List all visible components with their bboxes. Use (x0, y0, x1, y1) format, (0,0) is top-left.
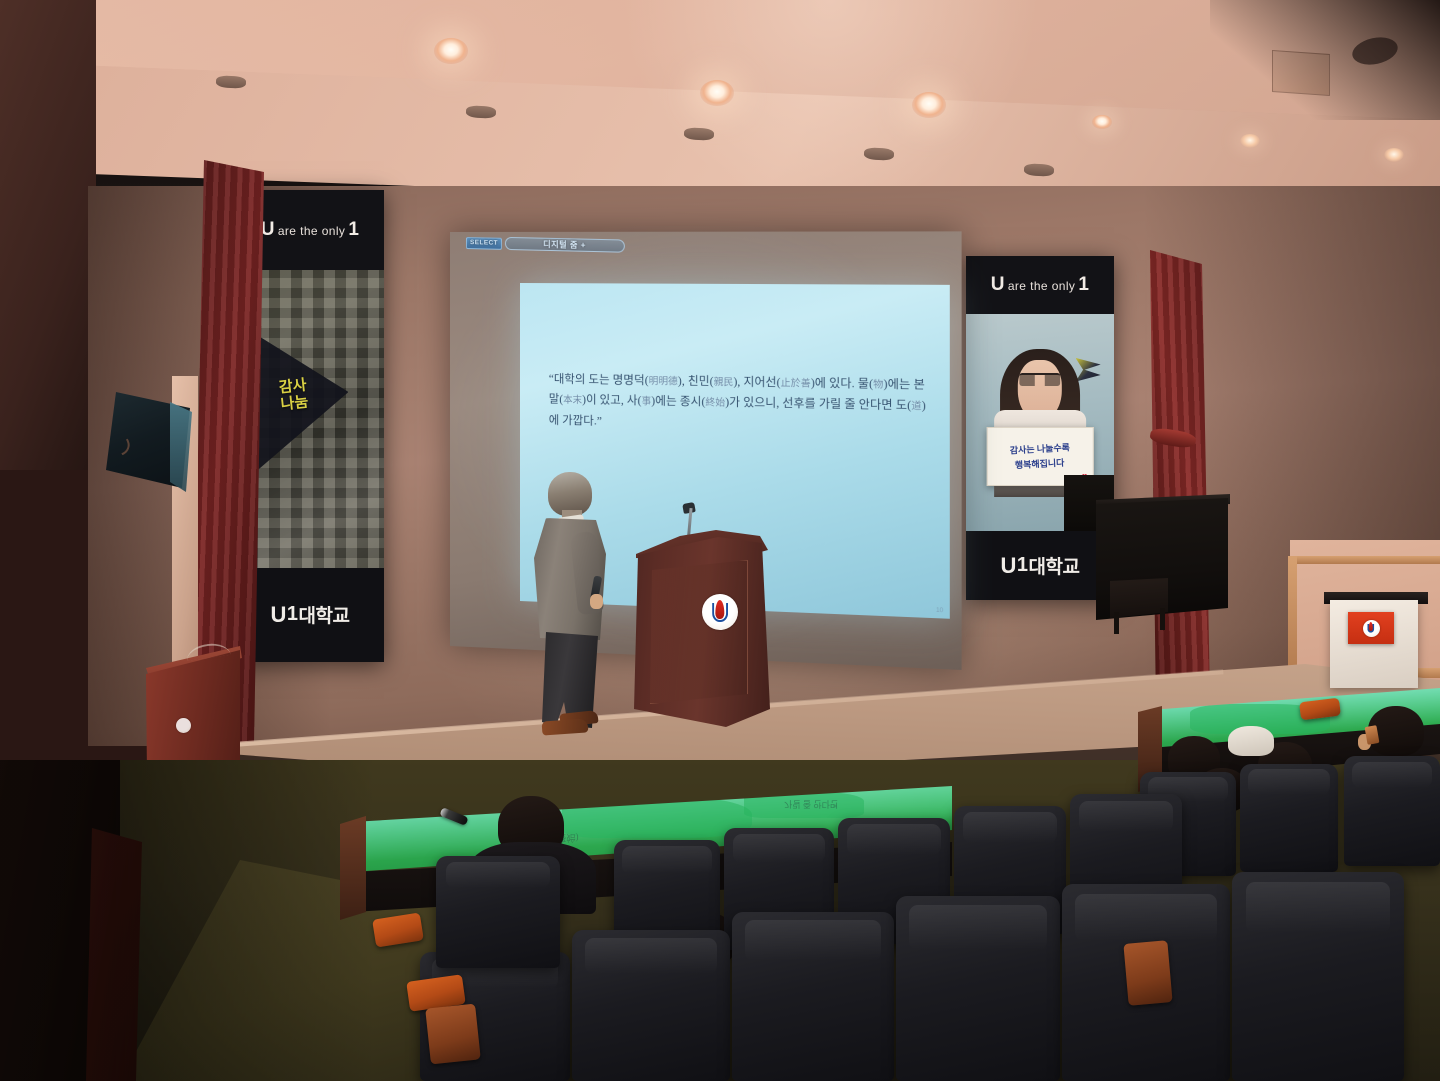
curtain-right (1150, 250, 1210, 710)
u1-university-seal-icon (702, 594, 738, 630)
banner-left-tagline: U are the only 1 (261, 219, 360, 241)
side-lectern-seal-icon (176, 718, 191, 733)
seat-highlight (1248, 769, 1330, 795)
banner-left-handwriting-line2: 나눔 (280, 395, 309, 415)
banner-left-tagline-one: 1 (348, 219, 359, 241)
ceiling-shadow (1210, 0, 1440, 120)
slide-text: “대학의 도는 명명덕(明明德), 친민(親民), 지어선(止於善)에 있다. … (549, 369, 932, 439)
seat-highlight (963, 812, 1057, 843)
banner-right-tagline-u: U (991, 274, 1005, 296)
seat-highlight (909, 905, 1047, 949)
sign-line-2: 행복해집니다 (1015, 456, 1065, 472)
ceiling-downlight-icon (1384, 148, 1404, 162)
red-notice-sign (1348, 612, 1394, 644)
seat-highlight (1246, 882, 1390, 932)
seat-highlight (1079, 801, 1173, 832)
banner-left-logo-u: U (271, 602, 286, 628)
ceiling-downlight-icon (1092, 115, 1112, 129)
ceiling-downlight-icon (1240, 134, 1260, 148)
wood-trim-upper (1288, 556, 1440, 564)
ceiling-downlight-icon (912, 92, 946, 118)
ceiling-track-fixture-icon (466, 105, 497, 119)
banner-right-logo-u: U (1001, 553, 1016, 579)
seat-highlight (1352, 762, 1433, 788)
auditorium-seat[interactable] (436, 856, 560, 968)
banner-left-logo: U 1 대학교 (271, 601, 350, 628)
podium-front-panel (644, 560, 748, 704)
seat-highlight (745, 920, 881, 961)
banner-right-logo-mark-icon (1076, 358, 1101, 382)
ceiling-light-glow (620, 0, 1040, 210)
banner-left-logo-num: 1 (287, 603, 298, 626)
banner-left-tagline-mid: are the only (278, 224, 346, 238)
glasses-icon (1019, 373, 1060, 386)
auditorium-seat[interactable] (732, 912, 894, 1081)
ceiling-track-fixture-icon (1024, 163, 1055, 177)
osd-digital-zoom-item[interactable]: 디지털 줌 + (505, 237, 625, 253)
banner-right: U are the only 1 감사는 나눌수록 행복해집니다 ♥ U 1 대… (966, 256, 1114, 600)
desk-reflection-text: 가릴 줄 안다면 (784, 798, 838, 811)
ceiling-track-fixture-icon (684, 127, 715, 141)
seat-highlight (847, 824, 941, 854)
banner-left-bottom: U 1 대학교 (236, 568, 384, 662)
sign-line-1: 감사는 나눌수록 (1010, 441, 1071, 457)
seat-armrest[interactable] (425, 1004, 481, 1065)
banner-right-tagline: U are the only 1 (991, 274, 1090, 296)
banner-right-top: U are the only 1 (966, 256, 1114, 314)
banner-left-logo-word: 대학교 (299, 601, 350, 628)
banner-right-photo: 감사는 나눌수록 행복해집니다 ♥ (966, 314, 1114, 531)
osd-select-badge[interactable]: SELECT (466, 237, 502, 250)
piano-bench-leg (1114, 612, 1119, 634)
banner-right-tagline-mid: are the only (1008, 279, 1076, 293)
banner-left-handwriting: 감사 나눔 (279, 377, 310, 414)
auditorium-seat[interactable] (1344, 756, 1440, 866)
auditorium-seat[interactable] (896, 896, 1060, 1081)
u1-university-seal-icon (1363, 620, 1380, 637)
auditorium-photo: U are the only 1 감사 나눔 U 1 대학교 U are the… (0, 0, 1440, 1081)
presenter-shoe-front (542, 718, 589, 735)
seat-highlight (446, 862, 550, 889)
seat-armrest[interactable] (1123, 940, 1172, 1006)
audience-white-cap (1228, 726, 1274, 756)
ceiling-downlight-icon (700, 80, 734, 106)
ceiling-track-fixture-icon (864, 147, 895, 161)
banner-right-logo-num: 1 (1017, 554, 1028, 577)
banner-right-tagline-one: 1 (1078, 274, 1089, 296)
seat-highlight (585, 938, 718, 974)
presenter-hand (590, 594, 603, 609)
presenter (520, 472, 610, 742)
auditorium-seat[interactable] (1240, 764, 1338, 872)
wood-trim-vertical (1288, 556, 1297, 678)
banner-right-logo: U 1 대학교 (1001, 552, 1080, 579)
banner-right-logo-word: 대학교 (1029, 552, 1080, 579)
slide-page-number: 10 (936, 608, 943, 615)
seat-highlight (622, 846, 711, 875)
seat-highlight (1075, 894, 1216, 941)
auditorium-seat[interactable] (572, 930, 730, 1081)
ceiling-downlight-icon (434, 38, 468, 64)
auditorium-seat[interactable] (1232, 872, 1404, 1081)
seat-highlight (733, 834, 825, 863)
left-wall-dark (0, 0, 96, 470)
banner-right-bottom: U 1 대학교 (966, 531, 1114, 600)
left-red-column (86, 828, 142, 1081)
desk-left-end-panel (340, 816, 366, 920)
piano-bench-leg (1160, 608, 1165, 630)
ceiling-track-fixture-icon (216, 75, 247, 89)
